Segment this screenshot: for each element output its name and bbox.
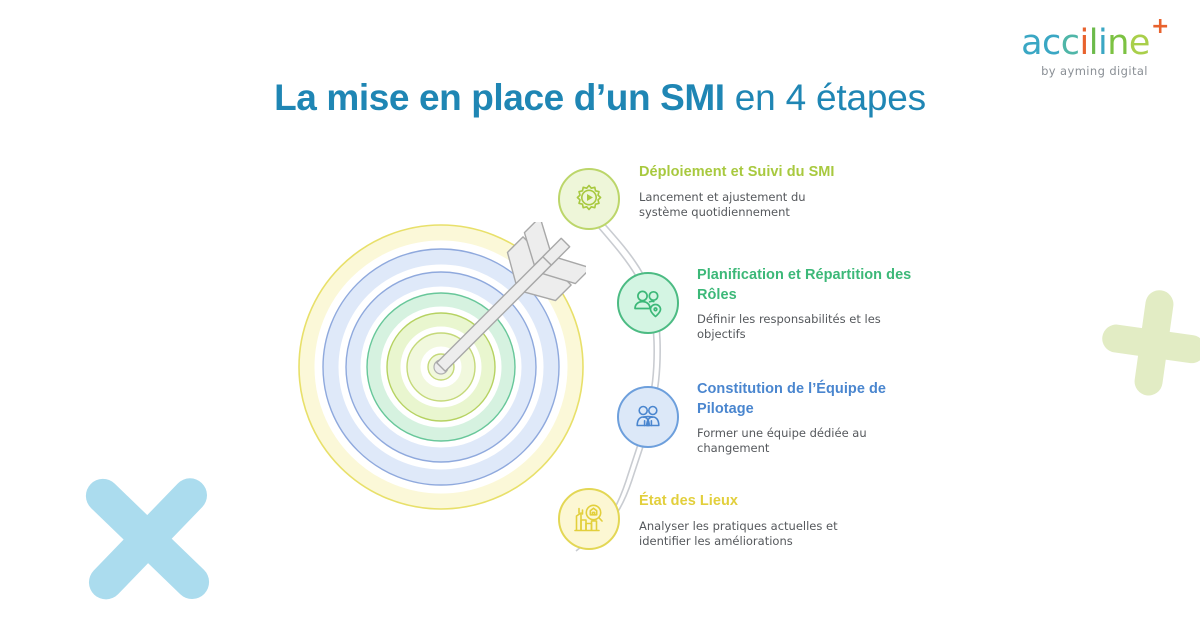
cross-decoration-green bbox=[1093, 281, 1200, 405]
step-4-title: État des Lieux bbox=[639, 492, 854, 512]
step-1-description: Lancement et ajustement du système quoti… bbox=[639, 190, 854, 221]
step-2-icon-circle[interactable] bbox=[617, 272, 679, 334]
step-1-title: Déploiement et Suivi du SMI bbox=[639, 163, 854, 183]
logo-letter-n: n bbox=[1107, 26, 1129, 61]
logo-tagline: by ayming digital bbox=[1007, 64, 1182, 78]
step-1-text-block: Déploiement et Suivi du SMI Lancement et… bbox=[639, 163, 854, 220]
logo-letter-c1: c bbox=[1042, 26, 1061, 61]
cross-bar-horizontal bbox=[82, 471, 214, 606]
step-3-title: Constitution de l’Équipe de Pilotage bbox=[697, 380, 912, 419]
step-4-text-block: État des Lieux Analyser les pratiques ac… bbox=[639, 492, 854, 549]
logo-letter-i2: i bbox=[1098, 26, 1107, 61]
logo-wordmark: acciline+ bbox=[1021, 24, 1168, 61]
step-2-description: Définir les responsabilités et les objec… bbox=[697, 312, 912, 343]
logo-letter-a: a bbox=[1021, 26, 1042, 61]
page-title: La mise en place d’un SMI en 4 étapes bbox=[0, 78, 1200, 119]
page-title-light: en 4 étapes bbox=[725, 77, 926, 118]
step-3-icon-circle[interactable] bbox=[617, 386, 679, 448]
team-group-icon bbox=[630, 399, 666, 435]
logo-letter-e: e bbox=[1129, 26, 1150, 61]
people-location-pin-icon bbox=[630, 285, 666, 321]
step-3-text-block: Constitution de l’Équipe de Pilotage For… bbox=[697, 380, 912, 457]
step-1-icon-circle[interactable] bbox=[558, 168, 620, 230]
cross-decoration-blue bbox=[44, 434, 250, 640]
logo-letter-l: l bbox=[1089, 26, 1098, 61]
step-2-text-block: Planification et Répartition des Rôles D… bbox=[697, 266, 912, 343]
infographic-canvas: acciline+ by ayming digital La mise en p… bbox=[0, 0, 1200, 628]
cross-bar-vertical bbox=[1133, 288, 1175, 397]
play-triangle bbox=[587, 194, 593, 201]
cross-bar-horizontal bbox=[1100, 323, 1200, 365]
step-3-description: Former une équipe dédiée au changement bbox=[697, 426, 912, 457]
page-title-bold: La mise en place d’un SMI bbox=[274, 77, 725, 118]
logo-letter-i1: i bbox=[1080, 26, 1089, 61]
cross-bar-vertical bbox=[79, 472, 216, 606]
step-4-description: Analyser les pratiques actuelles et iden… bbox=[639, 519, 854, 550]
brand-logo: acciline+ by ayming digital bbox=[1007, 24, 1182, 78]
gear-play-icon bbox=[571, 181, 607, 217]
magnifier-buildings-icon bbox=[571, 501, 607, 537]
logo-plus-icon: + bbox=[1151, 16, 1169, 38]
step-4-icon-circle[interactable] bbox=[558, 488, 620, 550]
logo-letter-c2: c bbox=[1061, 26, 1080, 61]
step-2-title: Planification et Répartition des Rôles bbox=[697, 266, 912, 305]
